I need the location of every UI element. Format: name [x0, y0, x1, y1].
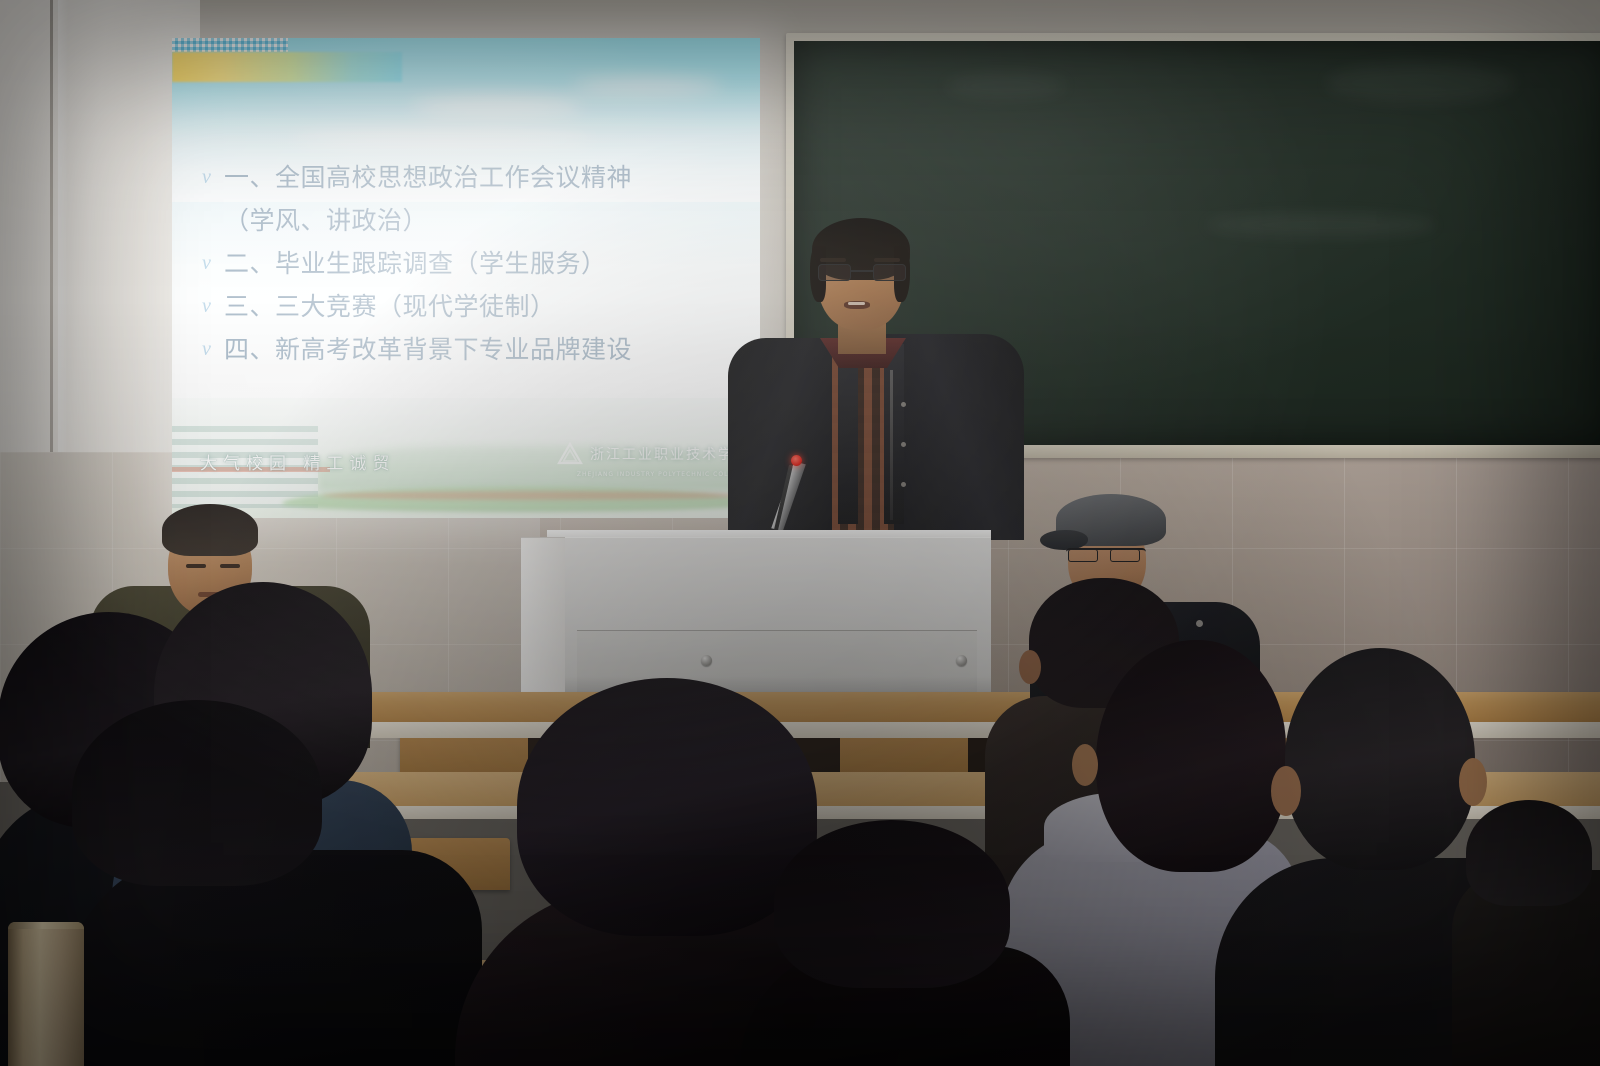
- jacket-button: [901, 482, 906, 487]
- audience-hair: [1466, 800, 1592, 906]
- gooseneck-microphone: [775, 455, 815, 537]
- slide-bullet-text: 二、毕业生跟踪调查（学生服务）: [224, 242, 607, 285]
- slide-bullet-text: （学风、讲政治）: [224, 199, 428, 242]
- slide-cloud: [292, 130, 592, 150]
- glasses-bridge: [851, 270, 873, 272]
- cap-brim: [1040, 530, 1088, 550]
- slide-checker-pattern: [172, 38, 288, 52]
- audience-hair: [72, 700, 322, 886]
- slide-bullet-list: v 一、全国高校思想政治工作会议精神 （学风、讲政治） v 二、毕业生跟踪调查（…: [202, 156, 742, 371]
- bullet-marker-icon: v: [202, 328, 224, 371]
- presenter-lapel-left: [838, 344, 858, 524]
- slide-bullet-4: v 四、新高考改革背景下专业品牌建设: [202, 328, 742, 371]
- slide-bullet-1: v 一、全国高校思想政治工作会议精神: [202, 156, 742, 199]
- school-triangle-logo-icon: [557, 442, 583, 466]
- presenter-eyebrow-right: [874, 258, 900, 262]
- front-left-dark-body: [62, 850, 482, 1066]
- presenter-jacket-zip: [890, 370, 893, 520]
- lectern-side-panel: [521, 537, 565, 695]
- audience-eye-left: [186, 564, 206, 568]
- audience-person-far-right: [1452, 800, 1600, 1066]
- lectern: [521, 530, 991, 695]
- audience-hair: [1285, 648, 1475, 870]
- chalk-smudge: [1326, 63, 1516, 103]
- audience-person-front-center-right: [740, 820, 1070, 1066]
- glasses-lens-left: [818, 264, 851, 281]
- bullet-marker-icon: v: [202, 156, 224, 199]
- glasses-lens-right: [1110, 549, 1140, 562]
- chalk-smudge: [1206, 213, 1436, 237]
- presenter: [720, 210, 1030, 540]
- projection-screen: v 一、全国高校思想政治工作会议精神 （学风、讲政治） v 二、毕业生跟踪调查（…: [172, 38, 760, 518]
- glasses-lens-left: [1068, 549, 1098, 562]
- slide-bullet-3: v 三、三大竞赛（现代学徒制）: [202, 285, 742, 328]
- jacket-button: [901, 402, 906, 407]
- audience-eye-right: [220, 564, 240, 568]
- slide-bullet-text: 一、全国高校思想政治工作会议精神: [224, 156, 632, 199]
- slide-bullet-1-sub: （学风、讲政治）: [202, 199, 742, 242]
- bullet-marker-icon: v: [202, 242, 224, 285]
- slide-cloud: [412, 96, 582, 118]
- audience-ear-left: [1271, 766, 1301, 816]
- presenter-eyebrow-left: [820, 258, 846, 262]
- audience-ear-right: [1459, 758, 1487, 806]
- thermos-lid: [8, 922, 84, 929]
- audience-hair: [774, 820, 1010, 988]
- lectern-knob-left[interactable]: [701, 655, 712, 666]
- slide-bullet-2: v 二、毕业生跟踪调查（学生服务）: [202, 242, 742, 285]
- slide-bullet-text: 三、三大竞赛（现代学徒制）: [224, 285, 556, 328]
- classroom-scene: v 一、全国高校思想政治工作会议精神 （学风、讲政治） v 二、毕业生跟踪调查（…: [0, 0, 1600, 1066]
- wall-seam-highlight: [58, 0, 68, 470]
- presenter-mouth: [844, 301, 870, 309]
- thermos-cup[interactable]: [8, 922, 84, 1066]
- audience-hair: [162, 504, 258, 556]
- glasses-lens-right: [873, 264, 906, 281]
- wall-seam: [50, 0, 53, 470]
- glasses-icon: [816, 264, 908, 281]
- audience-person-front-left-dark: [62, 700, 482, 1066]
- slide-bullet-text: 四、新高考改革背景下专业品牌建设: [224, 328, 632, 371]
- slide-accent-band: [172, 52, 402, 82]
- chalk-smudge: [946, 73, 1066, 99]
- campus-slogan-text: 大气校园 精工诚贸: [200, 449, 395, 474]
- audience-ear: [1072, 744, 1098, 786]
- bullet-marker-icon: v: [202, 285, 224, 328]
- microphone-led-indicator: [791, 455, 802, 466]
- upper-wall-left-panel: [0, 0, 200, 470]
- campus-photo-running-track: [322, 491, 742, 500]
- presenter-lapel-right: [884, 344, 904, 524]
- lectern-knob-right[interactable]: [956, 655, 967, 666]
- slide-cloud: [572, 78, 722, 94]
- jacket-button: [901, 442, 906, 447]
